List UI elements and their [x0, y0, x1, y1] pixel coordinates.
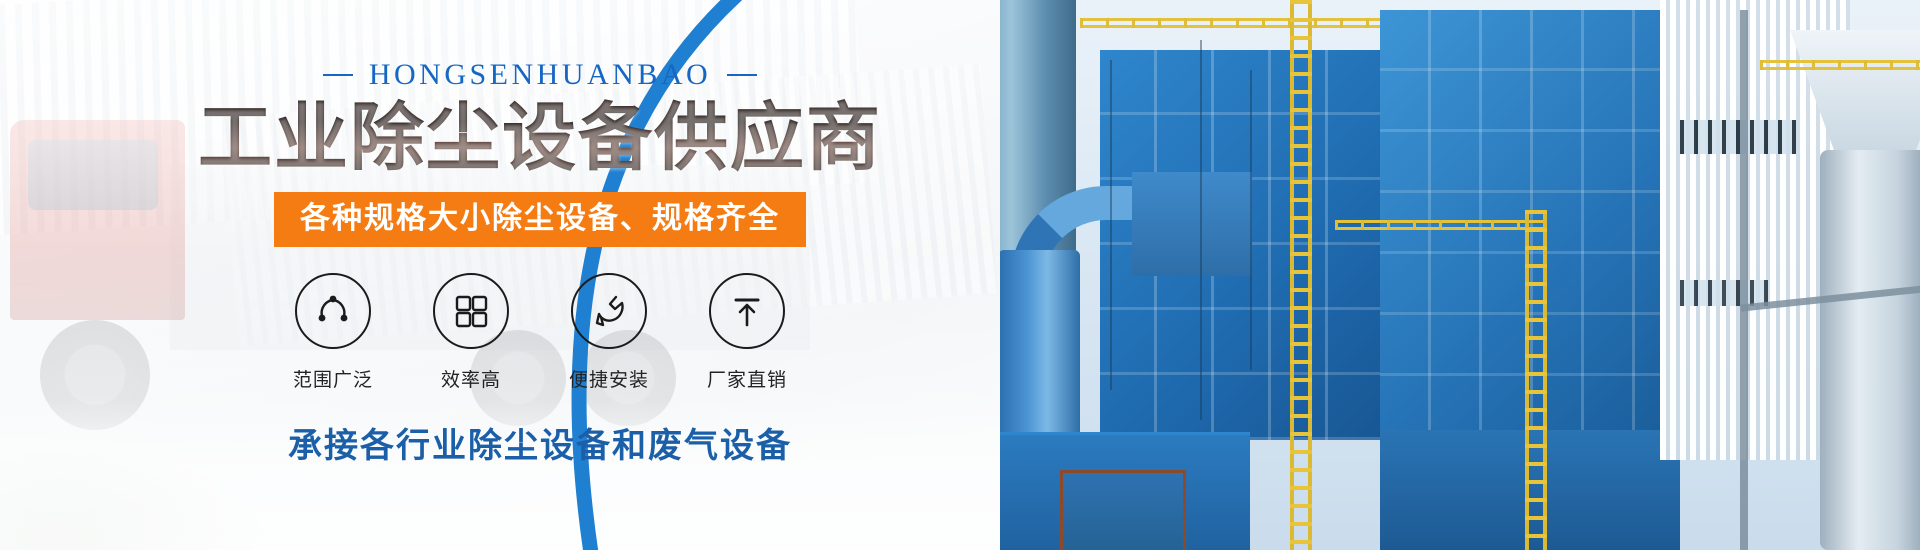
pinyin-text: HONGSENHUANBAO — [369, 58, 711, 92]
feature-item-install[interactable]: 便捷安装 — [561, 273, 657, 392]
feature-item-scope[interactable]: 范围广泛 — [285, 273, 381, 392]
yellow-caged-ladder — [1525, 210, 1547, 550]
yellow-railing — [1335, 220, 1545, 230]
cyclone-silo — [1820, 150, 1920, 550]
pinyin-subtitle: HONGSENHUANBAO — [323, 58, 757, 92]
hanging-wire — [1110, 60, 1112, 390]
dash-right-icon — [727, 74, 757, 76]
feature-item-factory-direct[interactable]: 厂家直销 — [699, 273, 795, 392]
feature-item-efficiency[interactable]: 效率高 — [423, 273, 519, 392]
hero-content: HONGSENHUANBAO 工业除尘设备供应商 各种规格大小除尘设备、规格齐全… — [0, 0, 1020, 550]
feature-label: 效率高 — [441, 365, 501, 392]
page-title: 工业除尘设备供应商 — [198, 98, 882, 178]
yellow-railing — [1080, 18, 1380, 28]
dash-left-icon — [323, 74, 353, 76]
tagline-text: 承接各行业除尘设备和废气设备 — [288, 418, 792, 467]
hanging-wire — [1200, 40, 1202, 420]
arrow-up-to-bar-icon — [727, 291, 767, 331]
duct-horizontal — [1132, 172, 1252, 276]
equipment-access-door — [1060, 470, 1186, 550]
feature-icon-circle — [295, 273, 371, 349]
feature-icon-circle — [571, 273, 647, 349]
wrench-icon — [588, 290, 630, 332]
network-nodes-icon — [312, 290, 354, 332]
feature-label: 范围广泛 — [293, 365, 373, 392]
yellow-railing — [1760, 60, 1920, 70]
orange-badge: 各种规格大小除尘设备、规格齐全 — [274, 192, 806, 247]
yellow-caged-ladder — [1290, 0, 1312, 550]
feature-label: 厂家直销 — [707, 365, 787, 392]
feature-list: 范围广泛 效率高 — [285, 273, 795, 392]
grid-squares-icon — [451, 291, 491, 331]
feature-icon-circle — [433, 273, 509, 349]
hanging-wire — [1250, 70, 1252, 370]
hero-banner: HONGSENHUANBAO 工业除尘设备供应商 各种规格大小除尘设备、规格齐全… — [0, 0, 1920, 550]
feature-icon-circle — [709, 273, 785, 349]
steel-beam — [1740, 10, 1748, 550]
feature-label: 便捷安装 — [569, 365, 649, 392]
